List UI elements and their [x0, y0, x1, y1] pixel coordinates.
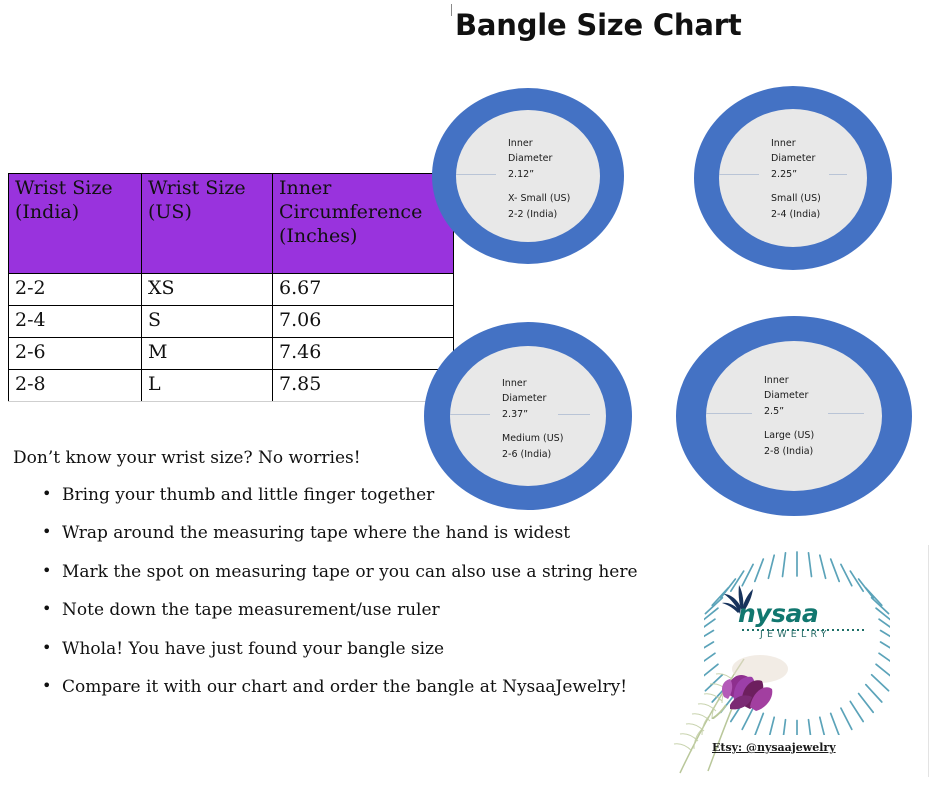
- text-caret-artifact: [451, 4, 452, 16]
- ring-label-large: Inner Diameter 2.5” Large (US) 2-8 (Indi…: [764, 373, 814, 459]
- bangle-ring-inner-area: Inner Diameter 2.37” Medium (US) 2-6 (In…: [450, 346, 606, 486]
- table-row: 2-2 XS 6.67: [9, 274, 454, 306]
- brand-logo-block: nysaa JEWELRY: [668, 545, 929, 777]
- cell-inner-circumference: 6.67: [273, 274, 454, 306]
- table-row: 2-4 S 7.06: [9, 306, 454, 338]
- bangle-ring-inner-area: Inner Diameter 2.12” X- Small (US) 2-2 (…: [456, 110, 600, 242]
- ring-size-us: Large (US): [764, 430, 814, 441]
- diameter-line-left: [719, 174, 759, 175]
- ring-label-small: Inner Diameter 2.25” Small (US) 2-4 (Ind…: [771, 136, 821, 222]
- cell-wrist-size-india: 2-2: [9, 274, 142, 306]
- table-row: 2-6 M 7.46: [9, 338, 454, 370]
- cell-wrist-size-us: L: [142, 370, 273, 402]
- cell-inner-circumference: 7.06: [273, 306, 454, 338]
- ring-label-diameter: Diameter: [771, 153, 815, 164]
- ring-label-diameter: Diameter: [502, 393, 546, 404]
- list-item: Compare it with our chart and order the …: [0, 677, 620, 697]
- ring-label-diameter: Diameter: [764, 390, 808, 401]
- list-item: Bring your thumb and little finger toget…: [0, 485, 620, 505]
- cell-wrist-size-india: 2-4: [9, 306, 142, 338]
- bangle-ring-small: Inner Diameter 2.25” Small (US) 2-4 (Ind…: [694, 86, 892, 270]
- list-item: Mark the spot on measuring tape or you c…: [0, 562, 620, 582]
- ring-size-india: 2-6 (India): [502, 449, 551, 460]
- list-item: Wrap around the measuring tape where the…: [0, 523, 620, 543]
- cell-wrist-size-us: XS: [142, 274, 273, 306]
- ring-size-india: 2-8 (India): [764, 446, 813, 457]
- ring-size-india: 2-4 (India): [771, 209, 820, 220]
- wrist-size-table: Wrist Size (India) Wrist Size (US) Inner…: [8, 173, 454, 402]
- cell-wrist-size-india: 2-6: [9, 338, 142, 370]
- diameter-line-left: [450, 414, 490, 415]
- bangle-ring-inner-area: Inner Diameter 2.5” Large (US) 2-8 (Indi…: [706, 341, 882, 491]
- bangle-ring-large: Inner Diameter 2.5” Large (US) 2-8 (Indi…: [676, 316, 912, 516]
- diameter-line-right: [829, 174, 847, 175]
- instructions-list: Bring your thumb and little finger toget…: [0, 485, 620, 715]
- ring-value-diameter: 2.5”: [764, 406, 784, 417]
- ring-value-diameter: 2.12”: [508, 169, 534, 180]
- purple-flower-icon: [712, 653, 792, 719]
- column-header-wrist-size-us: Wrist Size (US): [142, 174, 273, 274]
- ring-size-us: Medium (US): [502, 433, 563, 444]
- cell-inner-circumference: 7.46: [273, 338, 454, 370]
- ring-label-medium: Inner Diameter 2.37” Medium (US) 2-6 (In…: [502, 376, 563, 462]
- cell-wrist-size-india: 2-8: [9, 370, 142, 402]
- diameter-line-left: [456, 174, 496, 175]
- bangle-size-chart-page: Bangle Size Chart Wrist Size (India) Wri…: [0, 0, 940, 788]
- ring-label-inner: Inner: [764, 375, 789, 386]
- cell-wrist-size-us: S: [142, 306, 273, 338]
- ring-label-diameter: Diameter: [508, 153, 552, 164]
- bangle-ring-medium: Inner Diameter 2.37” Medium (US) 2-6 (In…: [424, 322, 632, 510]
- diameter-line-left: [706, 413, 752, 414]
- bangle-ring-x-small: Inner Diameter 2.12” X- Small (US) 2-2 (…: [432, 88, 624, 264]
- bangle-ring-inner-area: Inner Diameter 2.25” Small (US) 2-4 (Ind…: [719, 109, 867, 247]
- list-item: Note down the tape measurement/use ruler: [0, 600, 620, 620]
- etsy-handle: Etsy: @nysaajewelry: [712, 741, 836, 754]
- table-row: 2-8 L 7.85: [9, 370, 454, 402]
- diameter-line-right: [828, 413, 864, 414]
- list-item: Whola! You have just found your bangle s…: [0, 639, 620, 659]
- ring-size-india: 2-2 (India): [508, 209, 557, 220]
- table-header-row: Wrist Size (India) Wrist Size (US) Inner…: [9, 174, 454, 274]
- ring-label-x-small: Inner Diameter 2.12” X- Small (US) 2-2 (…: [508, 136, 570, 222]
- ring-label-inner: Inner: [771, 138, 796, 149]
- instructions-intro: Don’t know your wrist size? No worries!: [13, 448, 361, 468]
- ring-value-diameter: 2.25”: [771, 169, 797, 180]
- ring-value-diameter: 2.37”: [502, 409, 528, 420]
- ring-size-us: X- Small (US): [508, 193, 570, 204]
- page-title: Bangle Size Chart: [455, 8, 742, 42]
- ring-label-inner: Inner: [502, 378, 527, 389]
- cell-wrist-size-us: M: [142, 338, 273, 370]
- ring-label-inner: Inner: [508, 138, 533, 149]
- column-header-inner-circumference: Inner Circumference (Inches): [273, 174, 454, 274]
- ring-size-us: Small (US): [771, 193, 821, 204]
- column-header-wrist-size-india: Wrist Size (India): [9, 174, 142, 274]
